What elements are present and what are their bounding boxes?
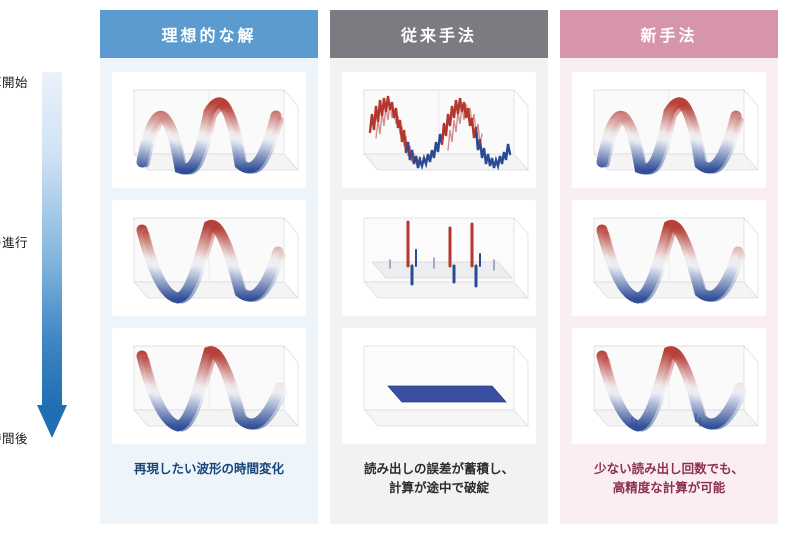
time-label-progress: 計算の進行 (0, 232, 28, 251)
surface-plot-smooth (572, 200, 766, 316)
column-ideal-title: 理想的な解 (100, 10, 318, 58)
time-axis: 計算開始 計算の進行 一定時間後 (0, 0, 100, 534)
surface-plot-smooth (112, 328, 306, 444)
plot-ideal-start (112, 72, 306, 188)
time-label-start: 計算開始 (0, 72, 28, 91)
plot-ideal-end (112, 328, 306, 444)
diagram-root: 計算開始 計算の進行 一定時間後 理想的な解 (0, 0, 800, 534)
column-conventional-caption: 読み出しの誤差が蓄積し、 計算が途中で破綻 (342, 460, 536, 499)
column-ideal-caption: 再現したい波形の時間変化 (112, 460, 306, 479)
plot-conventional-progress (342, 200, 536, 316)
caption-line-1: 少ない読み出し回数でも、 (594, 462, 744, 476)
time-label-end: 一定時間後 (0, 428, 28, 447)
column-conventional: 従来手法 (330, 10, 548, 524)
column-new-method-caption: 少ない読み出し回数でも、 高精度な計算が可能 (572, 460, 766, 499)
plot-new-end (572, 328, 766, 444)
surface-plot-smooth (112, 72, 306, 188)
plot-conventional-start (342, 72, 536, 188)
surface-plot-smooth (112, 200, 306, 316)
column-new-method: 新手法 (560, 10, 778, 524)
time-arrow-head (37, 405, 67, 438)
surface-plot-spiky (342, 200, 536, 316)
surface-plot-smooth-noise (572, 328, 766, 444)
plot-conventional-end (342, 328, 536, 444)
surface-plot-noisy (342, 72, 536, 188)
plot-new-progress (572, 200, 766, 316)
caption-line-2: 高精度な計算が可能 (613, 481, 726, 495)
plot-new-start (572, 72, 766, 188)
column-conventional-title: 従来手法 (330, 10, 548, 58)
time-arrow (38, 72, 66, 440)
surface-plot-flat (342, 328, 536, 444)
column-new-method-title: 新手法 (560, 10, 778, 58)
caption-line-1: 読み出しの誤差が蓄積し、 (364, 462, 514, 476)
plot-ideal-progress (112, 200, 306, 316)
column-ideal: 理想的な解 (100, 10, 318, 524)
surface-plot-smooth (572, 72, 766, 188)
caption-line-2: 計算が途中で破綻 (389, 481, 489, 495)
time-arrow-shaft (42, 72, 62, 407)
